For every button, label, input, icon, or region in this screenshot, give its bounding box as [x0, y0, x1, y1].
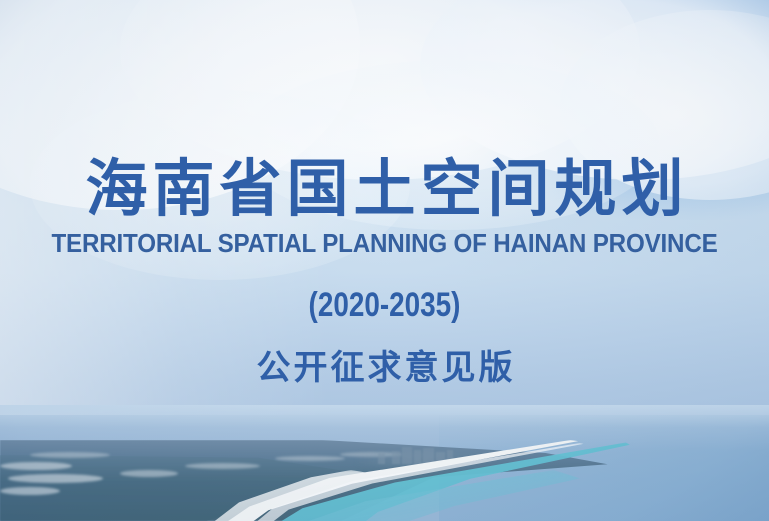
- building: [378, 453, 385, 464]
- background-photo: [0, 0, 769, 521]
- page-title-en: TERRITORIAL SPATIAL PLANNING OF HAINAN P…: [27, 228, 742, 258]
- sand-patch: [30, 452, 110, 458]
- sand-patch: [0, 462, 72, 470]
- building: [423, 448, 434, 464]
- sand-patch: [120, 470, 178, 477]
- building: [392, 451, 400, 464]
- building: [402, 447, 412, 464]
- page-title-cn: 海南省国土空间规划: [0, 154, 769, 226]
- edition-label: 公开征求意见版: [0, 347, 769, 389]
- cover-page: 海南省国土空间规划 TERRITORIAL SPATIAL PLANNING O…: [0, 0, 769, 521]
- sand-patch: [0, 487, 60, 495]
- plan-year-range: (2020-2035): [69, 285, 700, 325]
- sand-patch: [275, 456, 345, 461]
- sand-patch: [8, 474, 103, 483]
- sand-patch: [185, 463, 260, 469]
- building: [414, 450, 421, 464]
